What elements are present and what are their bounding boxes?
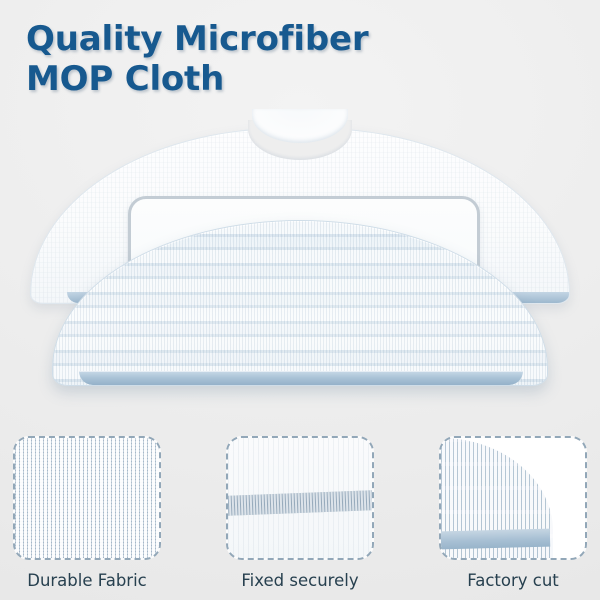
front-pad-binding-strip (79, 371, 523, 385)
fabric-weave-texture-icon (15, 438, 159, 558)
feature-thumbnail-fixed-securely (226, 436, 374, 560)
feature-item-fixed-securely: Fixed securely (225, 436, 375, 600)
product-poster: Quality Microfiber MOP Cloth Durable Fab… (0, 0, 600, 600)
title-line-1: Quality Microfiber (26, 20, 446, 60)
feature-caption-factory-cut: Factory cut (467, 571, 559, 590)
page-title: Quality Microfiber MOP Cloth (26, 20, 446, 100)
title-line-2: MOP Cloth (26, 60, 446, 100)
cut-corner-binding-strip (441, 529, 551, 550)
cut-corner-texture-icon (441, 438, 585, 558)
feature-item-durable-fabric: Durable Fabric (12, 436, 162, 600)
feature-item-factory-cut: Factory cut (438, 436, 588, 600)
feature-caption-fixed-securely: Fixed securely (241, 571, 358, 590)
feature-caption-durable-fabric: Durable Fabric (27, 571, 147, 590)
feature-strip: Durable Fabric Fixed securely Factory cu… (0, 436, 600, 600)
feature-thumbnail-durable-fabric (13, 436, 161, 560)
front-textured-mop-pad (52, 220, 548, 386)
feature-thumbnail-factory-cut (439, 436, 587, 560)
hero-product-image (0, 112, 600, 422)
velcro-band-texture-icon (228, 438, 372, 558)
